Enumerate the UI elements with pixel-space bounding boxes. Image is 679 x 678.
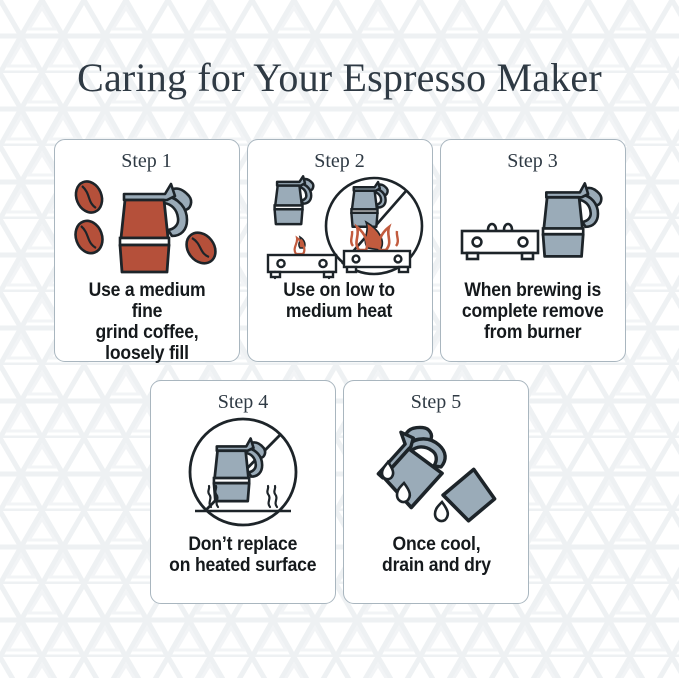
moka-pot-grey — [543, 183, 601, 256]
step-label-3: Step 3 — [507, 150, 558, 173]
step-label-2: Step 2 — [314, 150, 365, 173]
moka-pot-terracotta — [120, 184, 191, 272]
stove-small-flame — [294, 237, 304, 254]
step-label-4: Step 4 — [218, 391, 269, 414]
stove-no-flame — [462, 224, 538, 259]
coffee-bean — [71, 217, 107, 257]
step-2-illustration — [256, 173, 424, 278]
step-caption-2: Use on low to medium heat — [284, 280, 396, 322]
step-3-illustration — [449, 173, 617, 278]
coffee-bean — [71, 177, 106, 216]
stove-under-flame — [344, 251, 410, 272]
step-1-illustration — [63, 173, 231, 278]
moka-pot-grey — [214, 438, 265, 501]
moka-pot-base-tilted — [443, 469, 497, 522]
step-card-2[interactable]: Step 2 — [247, 139, 433, 362]
steps-row-1: Step 1 — [0, 139, 679, 362]
moka-pot-grey — [274, 176, 313, 224]
water-droplet — [435, 502, 448, 521]
steps-row-2: Step 4 — [0, 380, 679, 604]
step-card-3[interactable]: Step 3 — [440, 139, 626, 362]
step-caption-4: Don’t replace on heated surface — [169, 534, 316, 576]
step-4-illustration — [159, 414, 327, 532]
step-card-4[interactable]: Step 4 — [150, 380, 336, 604]
step-caption-3: When brewing is complete remove from bur… — [462, 280, 604, 343]
step-5-illustration — [352, 414, 520, 532]
step-card-1[interactable]: Step 1 — [54, 139, 240, 362]
stove-no-flame — [268, 255, 336, 278]
step-label-1: Step 1 — [121, 150, 172, 173]
coffee-bean — [180, 226, 221, 268]
step-caption-1: Use a medium fine grind coffee, loosely … — [71, 280, 222, 363]
step-caption-5: Once cool, drain and dry — [382, 534, 491, 576]
step-card-5[interactable]: Step 5 — [343, 380, 529, 604]
page-title: Caring for Your Espresso Maker — [0, 58, 679, 98]
steps-grid: Step 1 — [0, 139, 679, 604]
step-label-5: Step 5 — [411, 391, 462, 414]
